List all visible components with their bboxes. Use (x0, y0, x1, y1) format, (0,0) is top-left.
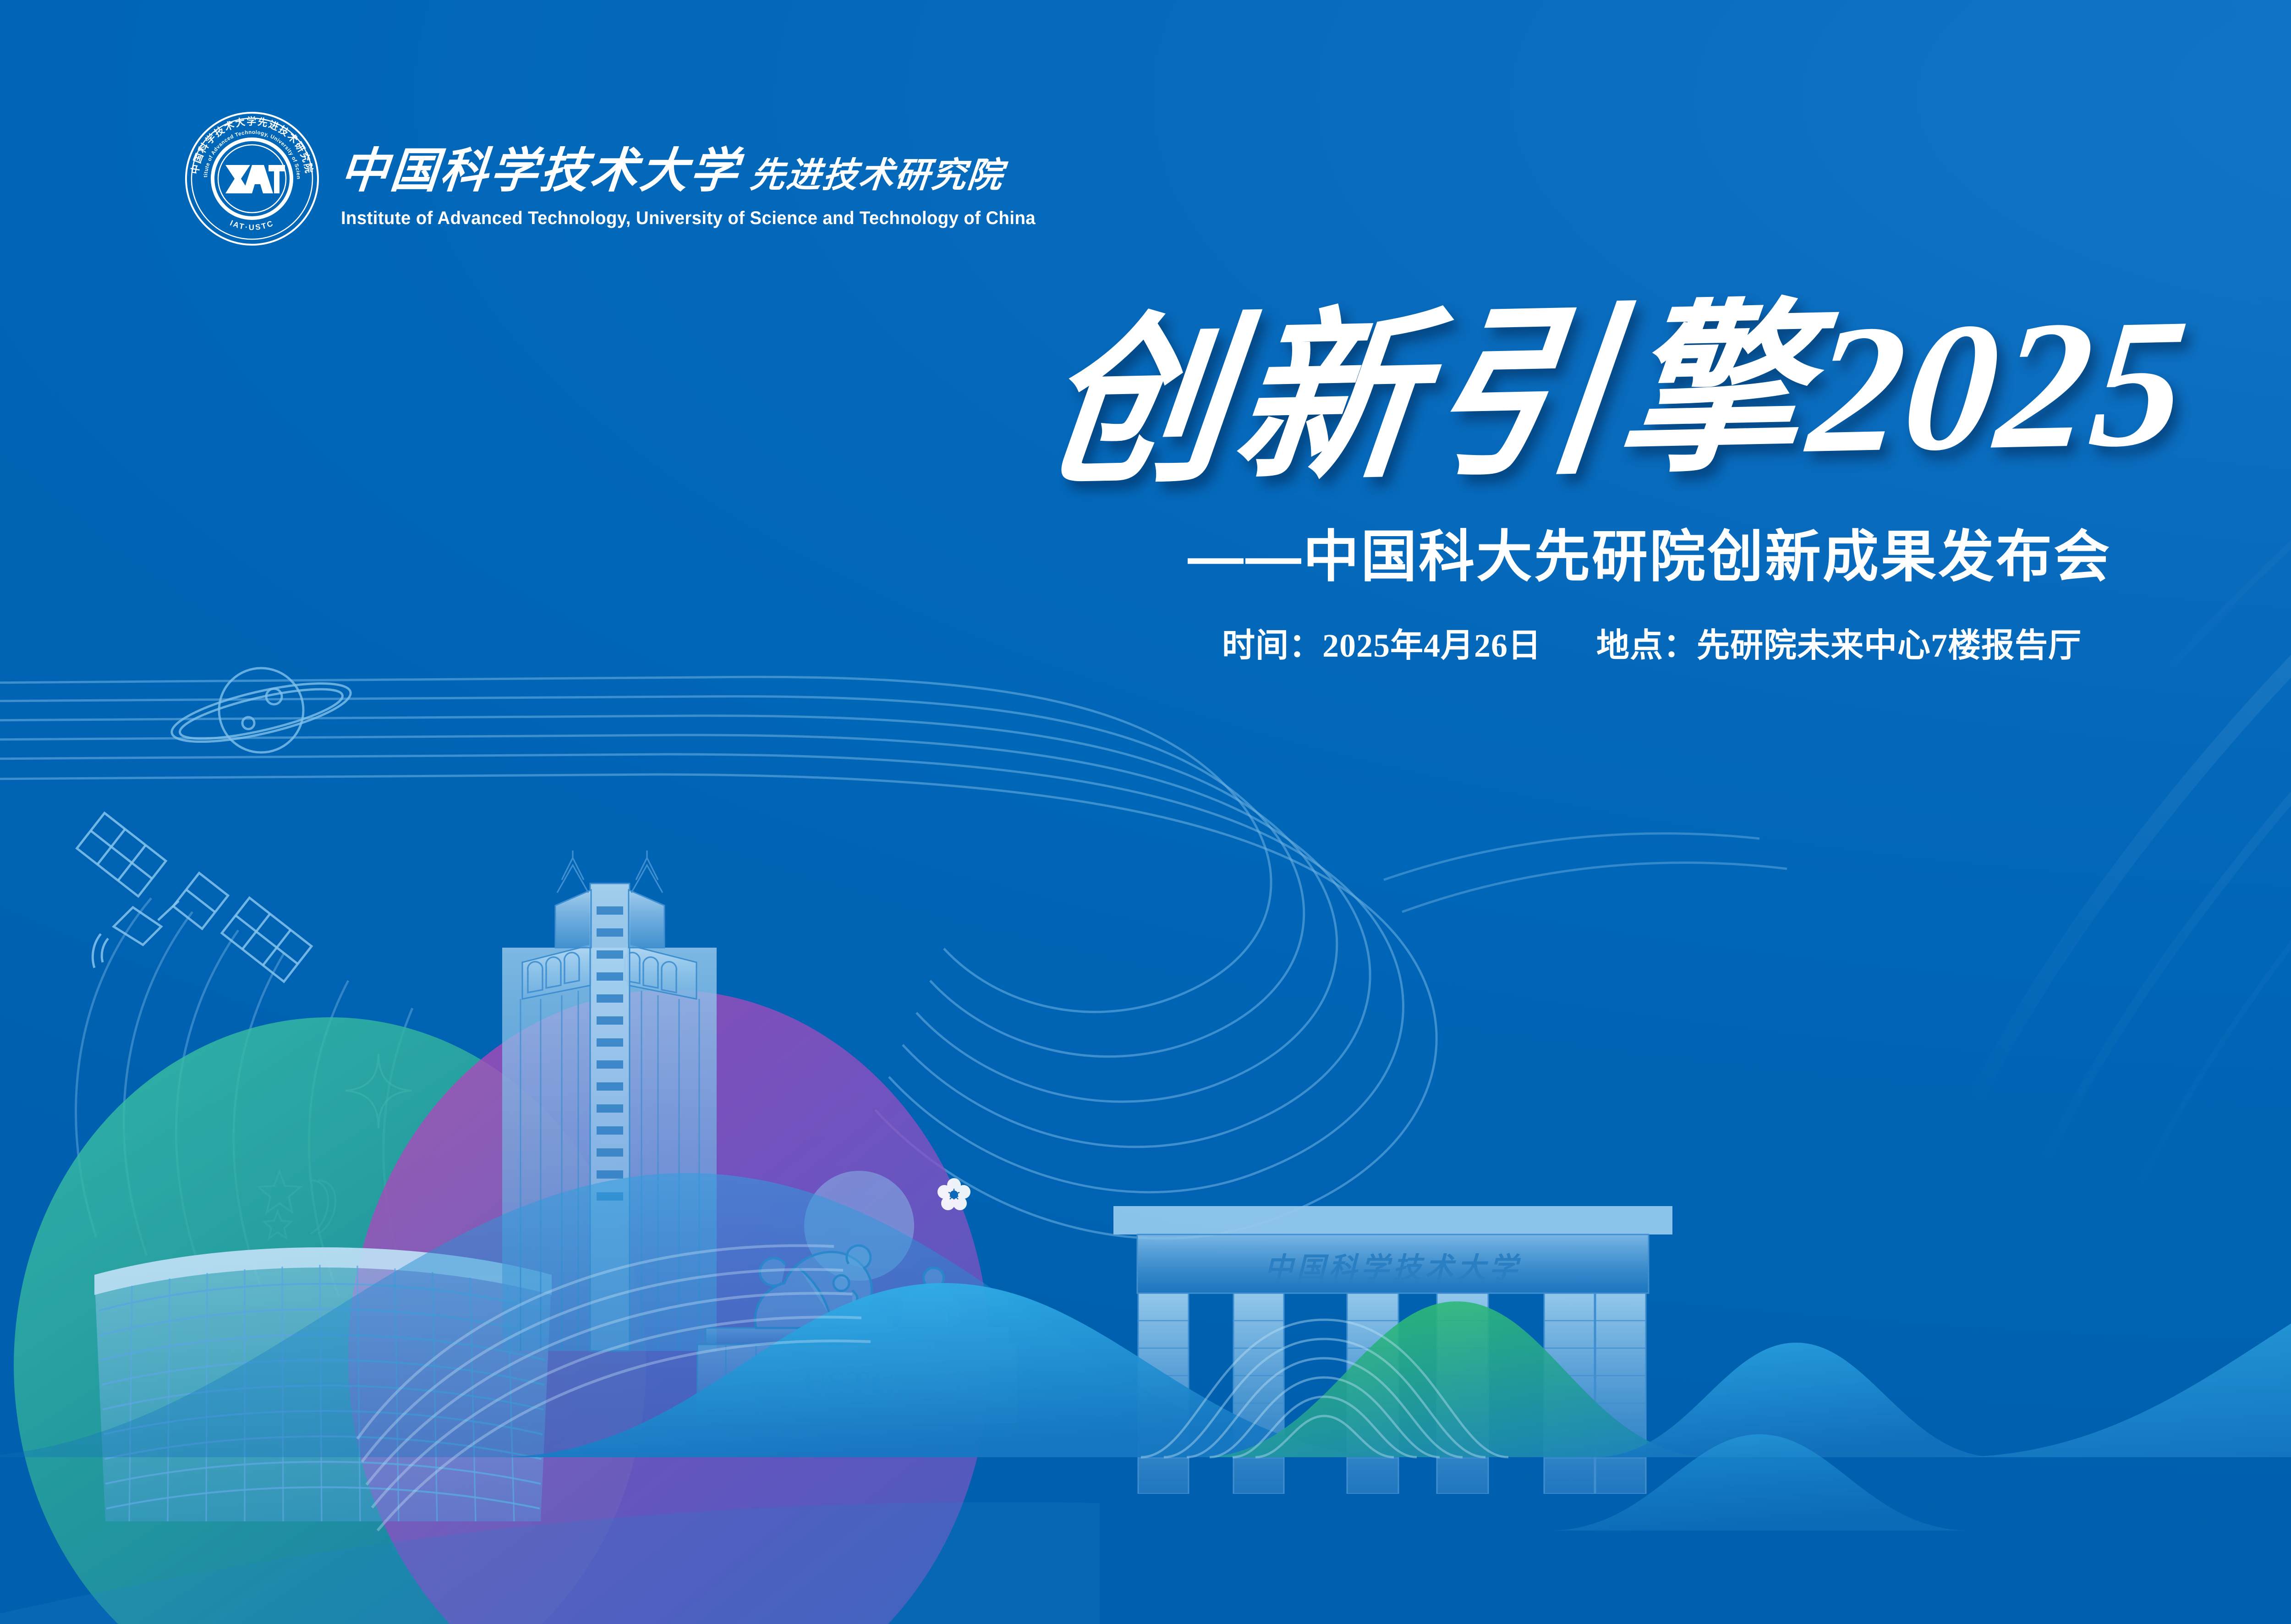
page-title: 创新引擎2025 (1035, 291, 2196, 498)
logo-name-cn-main: 中国科学技术大学 (338, 132, 743, 201)
event-info-line: 时间：2025年4月26日地点：先研院未来中心7楼报告厅 (1222, 618, 2082, 666)
main-title-cn: 创新引擎 (1034, 288, 1822, 507)
poster-canvas: USTC (0, 0, 2291, 1624)
time-value: 2025年4月26日 (1322, 627, 1541, 664)
monument-inscription: USTC (802, 1364, 895, 1403)
gate-inscription: 中国科学技术大学 (1265, 1253, 1521, 1284)
header-logo-block: 中国科学技术大学先进技术研究院 Institute of Advanced Te… (183, 110, 1064, 247)
place-label: 地点： (1596, 627, 1697, 664)
sparkle-icon (339, 1049, 412, 1141)
plum-blossom-icon (937, 1178, 970, 1210)
logo-name-cn-sub: 先进技术研究院 (748, 147, 1006, 197)
subtitle: ——中国科大先研院创新成果发布会 (1188, 511, 2111, 593)
satellite-icon (64, 811, 357, 1004)
iat-ustc-emblem-icon: 中国科学技术大学先进技术研究院 Institute of Advanced Te… (183, 110, 321, 247)
title-block: 创新引擎2025 ——中国科大先研院创新成果发布会 时间：2025年4月26日地… (0, 302, 2291, 666)
svg-text:IAT·USTC: IAT·USTC (229, 219, 275, 232)
main-title-year: 2025 (1802, 280, 2197, 491)
ustc-gate: 中国科学技术大学 (1109, 1201, 1677, 1494)
logo-text-block: 中国科学技术大学 先进技术研究院 Institute of Advanced T… (341, 129, 1064, 229)
logo-name-en: Institute of Advanced Technology, Univer… (341, 208, 1036, 229)
logo-name-cn-row: 中国科学技术大学 先进技术研究院 (341, 132, 1064, 201)
panda-monument: USTC (687, 1146, 1026, 1466)
place-value: 先研院未来中心7楼报告厅 (1697, 627, 2082, 664)
time-label: 时间： (1222, 627, 1322, 664)
